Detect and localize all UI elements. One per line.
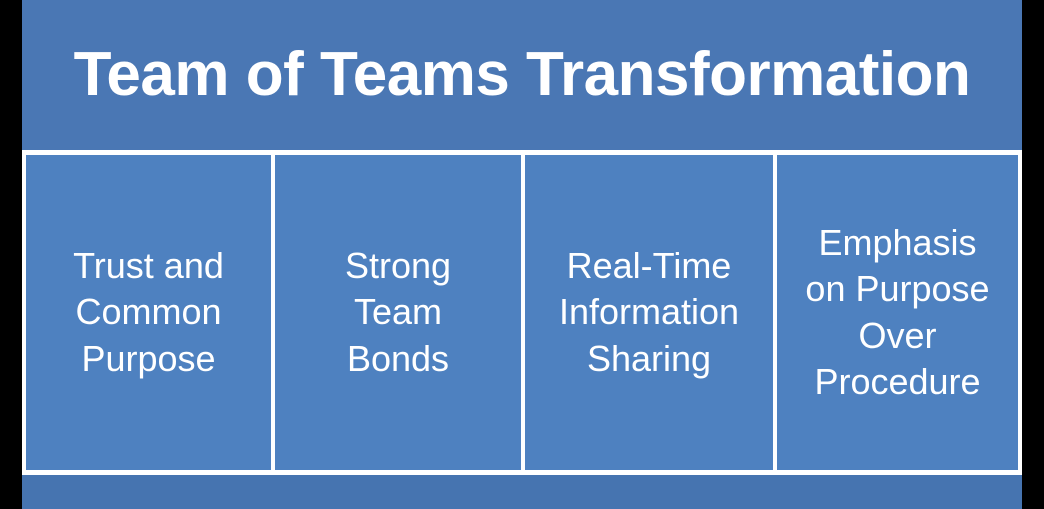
footer-band [22, 475, 1022, 509]
pillar-card-row: Trust and Common Purpose Strong Team Bon… [22, 155, 1022, 470]
pillar-card-emphasis-on-purpose-over-procedure[interactable]: Emphasis on Purpose Over Procedure [777, 155, 1018, 470]
page-title: Team of Teams Transformation [64, 42, 981, 107]
pillar-card-trust-and-common-purpose[interactable]: Trust and Common Purpose [26, 155, 271, 470]
slide-canvas: Team of Teams Transformation Trust and C… [0, 0, 1044, 509]
pillar-card-label: Trust and Common Purpose [73, 243, 224, 381]
title-band: Team of Teams Transformation [22, 0, 1022, 150]
pillar-card-label: Strong Team Bonds [345, 243, 451, 381]
pillar-card-strong-team-bonds[interactable]: Strong Team Bonds [275, 155, 521, 470]
pillar-card-label: Emphasis on Purpose Over Procedure [805, 220, 989, 404]
pillar-card-real-time-information-sharing[interactable]: Real-Time Information Sharing [525, 155, 773, 470]
card-row-right-edge [1018, 155, 1022, 470]
pillar-card-label: Real-Time Information Sharing [559, 243, 739, 381]
